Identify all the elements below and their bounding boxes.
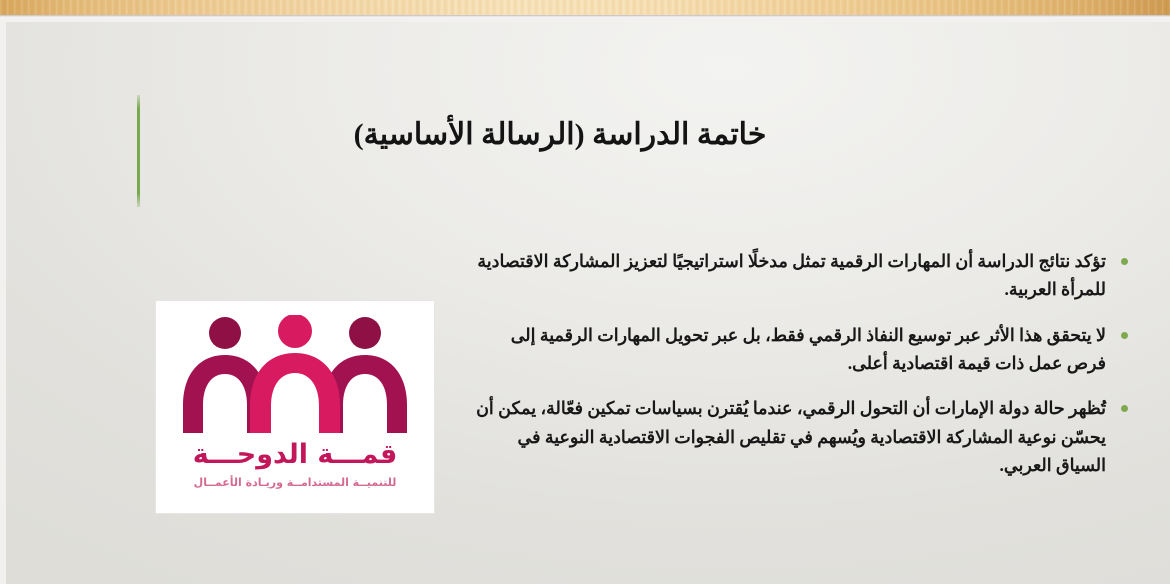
list-item: تؤكد نتائج الدراسة أن المهارات الرقمية ت… (472, 247, 1132, 304)
doha-summit-logo: قمـــة الدوحـــة للتنميــة المستدامــة و… (156, 301, 434, 513)
list-item-text: لا يتحقق هذا الأثر عبر توسيع النفاذ الرق… (472, 321, 1106, 378)
three-people-logo-icon (177, 315, 413, 437)
title-accent-bar (137, 95, 140, 207)
bullet-list: تؤكد نتائج الدراسة أن المهارات الرقمية ت… (472, 247, 1132, 479)
list-item: تُظهر حالة دولة الإمارات أن التحول الرقم… (472, 394, 1132, 479)
bullet-dot-icon (1121, 405, 1128, 412)
list-item-text: تُظهر حالة دولة الإمارات أن التحول الرقم… (472, 394, 1106, 479)
presentation-slide: خاتمة الدراسة (الرسالة الأساسية) تؤكد نت… (0, 0, 1170, 584)
slide-canvas: خاتمة الدراسة (الرسالة الأساسية) تؤكد نت… (6, 22, 1170, 584)
logo-inner: قمـــة الدوحـــة للتنميــة المستدامــة و… (156, 301, 434, 513)
bullet-dot-icon (1121, 332, 1128, 339)
logo-tagline: للتنميــة المستدامــة وريـادة الأعمــال (156, 477, 434, 488)
bullet-dot-icon (1121, 258, 1128, 265)
logo-wordmark: قمـــة الدوحـــة (156, 441, 434, 468)
slide-frame: خاتمة الدراسة (الرسالة الأساسية) تؤكد نت… (0, 18, 1170, 584)
list-item: لا يتحقق هذا الأثر عبر توسيع النفاذ الرق… (472, 321, 1132, 378)
decorative-top-band (0, 0, 1170, 15)
page-title: خاتمة الدراسة (الرسالة الأساسية) (250, 116, 870, 154)
list-item-text: تؤكد نتائج الدراسة أن المهارات الرقمية ت… (472, 247, 1106, 304)
